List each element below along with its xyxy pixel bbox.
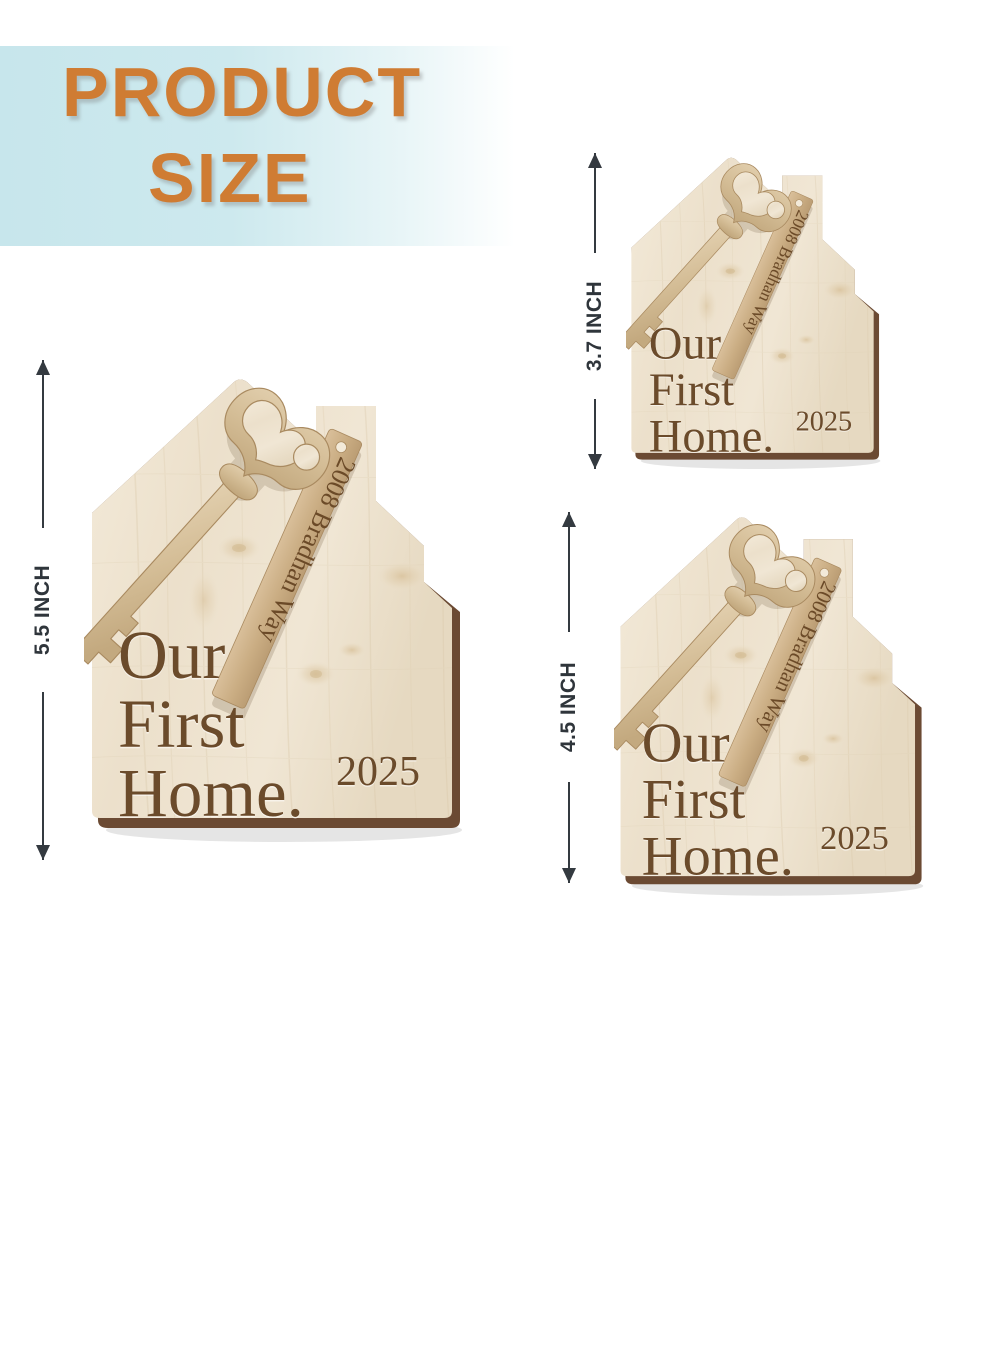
engraved-line-2: First [118, 690, 304, 759]
measurement-label-wrap: 5.5 INCH [26, 528, 60, 692]
measurement-label: 3.7 INCH [583, 281, 607, 371]
page-title-line-1: PRODUCT [62, 58, 422, 127]
engraved-year: 2025 [336, 748, 420, 796]
ornament-stage: OurFirstHome.20252008 Bradhan Way [614, 508, 1000, 1326]
engraved-line-3: Home. [642, 828, 794, 884]
arrow-head-down-icon [36, 845, 50, 860]
arrow-head-up-icon [36, 360, 50, 375]
ornament-small-top[interactable]: OurFirstHome.20252008 Bradhan Way [626, 150, 912, 473]
engraved-line-3: Home. [118, 759, 304, 828]
product-size-banner: PRODUCT SIZE [0, 46, 515, 246]
measurement-arrow-5-5-inch: 5.5 INCH [26, 360, 60, 860]
engraved-year: 2025 [820, 819, 889, 858]
page-title-line-2: SIZE [148, 144, 312, 213]
ornament-large[interactable]: OurFirstHome.20252008 Bradhan Way [84, 368, 509, 848]
ornament-small-bottom[interactable]: OurFirstHome.20252008 Bradhan Way [614, 508, 962, 901]
engraved-line-2: First [642, 771, 794, 827]
engraved-year: 2025 [796, 406, 853, 438]
measurement-label: 5.5 INCH [31, 565, 55, 655]
arrow-head-up-icon [588, 153, 602, 168]
engraved-line-3: Home. [649, 413, 774, 459]
engraved-line-2: First [649, 367, 774, 413]
